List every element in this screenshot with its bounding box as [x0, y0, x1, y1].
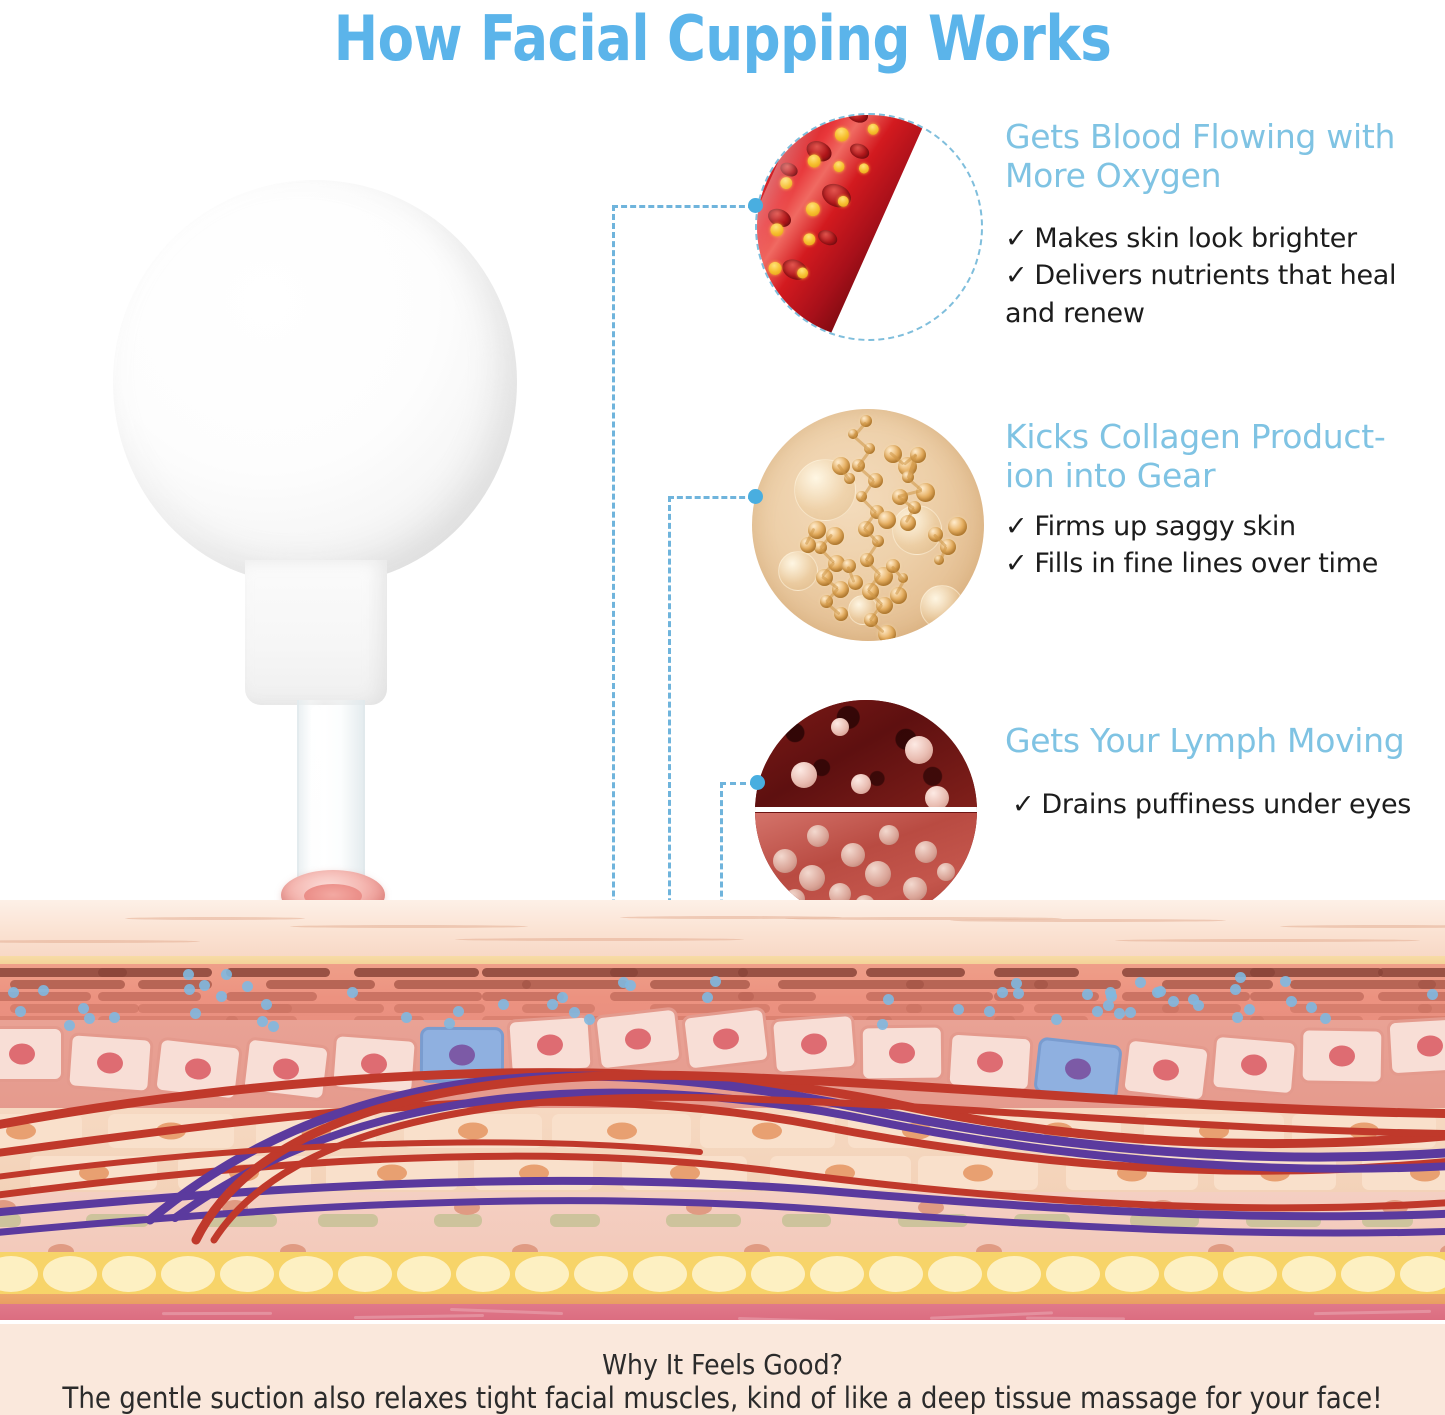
lymph-particle [1286, 996, 1297, 1007]
lymph-particle [997, 987, 1008, 998]
lymph-particle [557, 992, 568, 1003]
lymph-particle [1244, 1004, 1255, 1015]
lymph-particle [1320, 1013, 1331, 1024]
footer-answer: The gentle suction also relaxes tight fa… [0, 1381, 1445, 1415]
check-icon: ✓ [1005, 548, 1027, 579]
connector-dot [748, 198, 763, 213]
lymph-particle [347, 987, 358, 998]
lymph-particle [453, 1006, 464, 1017]
lymph-particle [547, 999, 558, 1010]
feature-bullets-blood-flow: ✓Makes skin look brighter ✓Delivers nutr… [1005, 220, 1437, 332]
lymph-particle [1092, 1006, 1103, 1017]
bullet-item: ✓Fills in fine lines over time [1005, 545, 1437, 582]
connector-dot [750, 775, 765, 790]
blood-vessel-network [0, 900, 1445, 1320]
cup-glass-stem [297, 700, 365, 885]
cup-bulb [113, 180, 517, 584]
check-icon: ✓ [1005, 223, 1027, 254]
lymph-particle [877, 1019, 888, 1030]
lymph-particle [8, 987, 19, 998]
lymph-particle [1152, 987, 1163, 998]
lymph-particle [444, 1018, 455, 1029]
lymph-particle [1235, 972, 1246, 983]
lymph-particle [109, 1012, 120, 1023]
bullet-item: ✓Drains puffiness under eyes [1012, 786, 1444, 823]
bullet-item: ✓Makes skin look brighter [1005, 220, 1437, 257]
check-icon: ✓ [1005, 511, 1027, 542]
blood-vessel [0, 1102, 1445, 1171]
connector-dot [748, 489, 763, 504]
lymph-particle [261, 999, 272, 1010]
lymph-particle [221, 969, 232, 980]
lymph-particle [569, 1007, 580, 1018]
footer-question: Why It Feels Good? [0, 1348, 1445, 1381]
lymph-particle [953, 1004, 964, 1015]
lymph-particle [216, 991, 227, 1002]
bullet-item: ✓Firms up saggy skin [1005, 508, 1437, 545]
collagen-image [752, 409, 984, 641]
cup-neck [245, 560, 387, 705]
lymph-particle [1135, 977, 1146, 988]
page-title: How Facial Cupping Works [36, 2, 1409, 75]
lymph-particle [1280, 976, 1291, 987]
lymph-particle [984, 1006, 995, 1017]
lymph-particle [78, 1003, 89, 1014]
lymph-particle [1306, 1002, 1317, 1013]
lymph-particle [199, 980, 210, 991]
lymph-particle [1114, 1008, 1125, 1019]
lymph-particle [1013, 988, 1024, 999]
blood-vessel-image [755, 113, 983, 341]
lymph-particle [1168, 996, 1179, 1007]
feature-bullets-collagen: ✓Firms up saggy skin ✓Fills in fine line… [1005, 508, 1437, 583]
bullet-item: ✓Delivers nutrients that heal and renew [1005, 257, 1437, 332]
lymph-particle [584, 1014, 595, 1025]
lymph-particle [1125, 1007, 1136, 1018]
lymph-particle [1082, 989, 1093, 1000]
lymph-particle [257, 1016, 268, 1027]
feature-heading-lymph: Gets Your Lymph Moving [1005, 722, 1445, 761]
feature-bullets-lymph: ✓Drains puffiness under eyes [1012, 786, 1444, 823]
lymph-particle [401, 1012, 412, 1023]
lymph-particle [710, 976, 721, 987]
feature-heading-collagen: Kicks Collagen Product- ion into Gear [1005, 418, 1445, 496]
lymph-particle [498, 999, 509, 1010]
check-icon: ✓ [1012, 789, 1034, 820]
feature-heading-blood-flow: Gets Blood Flowing with More Oxygen [1005, 118, 1445, 196]
lymph-tissue-image [755, 700, 977, 922]
lymph-particle [702, 992, 713, 1003]
skin-cross-section [0, 900, 1445, 1320]
check-icon: ✓ [1005, 260, 1027, 291]
lymph-particle [883, 994, 894, 1005]
lymph-particle [1193, 1000, 1204, 1011]
